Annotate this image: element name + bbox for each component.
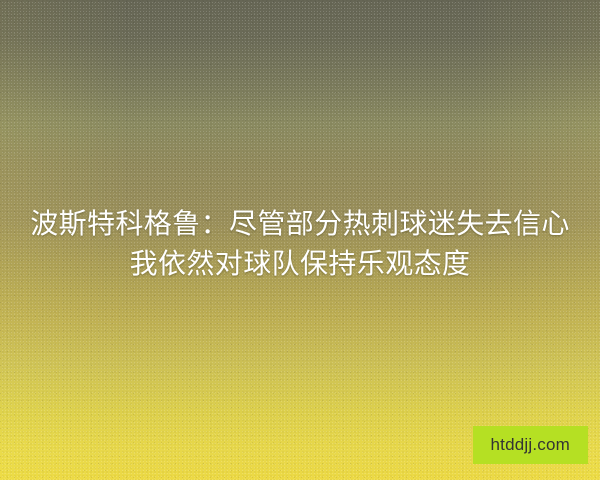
article-cover-image: 波斯特科格鲁：尽管部分热刺球迷失去信心 我依然对球队保持乐观态度 htddjj.… [0, 0, 600, 480]
watermark-badge: htddjj.com [473, 426, 588, 464]
watermark-label: htddjj.com [491, 435, 570, 454]
headline-text: 波斯特科格鲁：尽管部分热刺球迷失去信心 我依然对球队保持乐观态度 [0, 204, 600, 284]
